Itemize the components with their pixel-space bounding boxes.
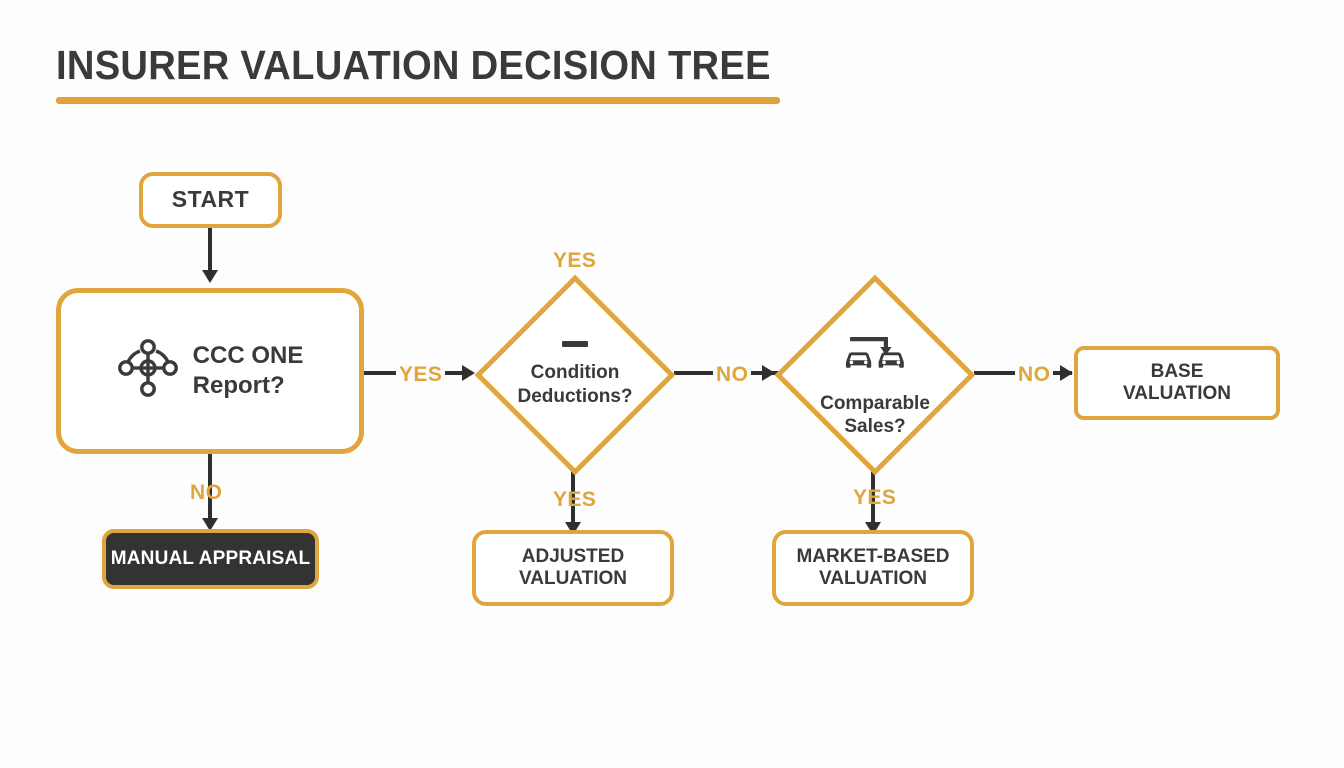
edge-label-ccc-no: NO — [190, 482, 222, 503]
edge-label-comparable-yes: YES — [853, 487, 896, 508]
node-manual-appraisal[interactable]: MANUAL APPRAISAL — [102, 529, 319, 589]
edge-label-condition-no: NO — [713, 362, 751, 387]
edge-label-ccc-yes: YES — [396, 362, 445, 387]
edge-start-to-ccc-line — [208, 228, 212, 274]
node-adjusted-valuation-label: ADJUSTED VALUATION — [519, 546, 627, 591]
diamond-outline — [775, 275, 976, 476]
diamond-outline — [475, 275, 676, 476]
edge-comparable-no-arrowhead — [1060, 365, 1073, 381]
title-block: INSURER VALUATION DECISION TREE — [56, 44, 816, 104]
node-market-based-valuation-label: MARKET-BASED VALUATION — [796, 546, 949, 591]
node-manual-appraisal-label: MANUAL APPRAISAL — [111, 548, 311, 570]
node-start[interactable]: START — [139, 172, 282, 228]
node-adjusted-valuation[interactable]: ADJUSTED VALUATION — [472, 530, 674, 606]
node-ccc-one-report-label: CCC ONE Report? — [193, 341, 304, 401]
edge-condition-no-arrowhead — [762, 365, 775, 381]
edge-label-comparable-no: NO — [1015, 362, 1053, 387]
page-title: INSURER VALUATION DECISION TREE — [56, 44, 763, 87]
node-ccc-one-report[interactable]: CCC ONE Report? — [56, 288, 364, 454]
edge-ccc-yes-arrowhead — [462, 365, 475, 381]
edge-label-condition-yes-bottom: YES — [553, 489, 596, 510]
node-condition-deductions[interactable]: Condition Deductions? — [475, 275, 675, 475]
node-base-valuation[interactable]: BASE VALUATION — [1074, 346, 1280, 420]
edge-label-condition-yes-top: YES — [553, 250, 596, 271]
node-comparable-sales[interactable]: Comparable Sales? — [775, 275, 975, 475]
network-nodes-icon — [117, 337, 179, 405]
node-market-based-valuation[interactable]: MARKET-BASED VALUATION — [772, 530, 974, 606]
edge-start-to-ccc-arrowhead — [202, 270, 218, 283]
diagram-canvas: INSURER VALUATION DECISION TREE START — [0, 0, 1344, 768]
node-start-label: START — [172, 186, 249, 213]
node-base-valuation-label: BASE VALUATION — [1123, 361, 1231, 406]
title-underline-rule — [56, 97, 780, 104]
